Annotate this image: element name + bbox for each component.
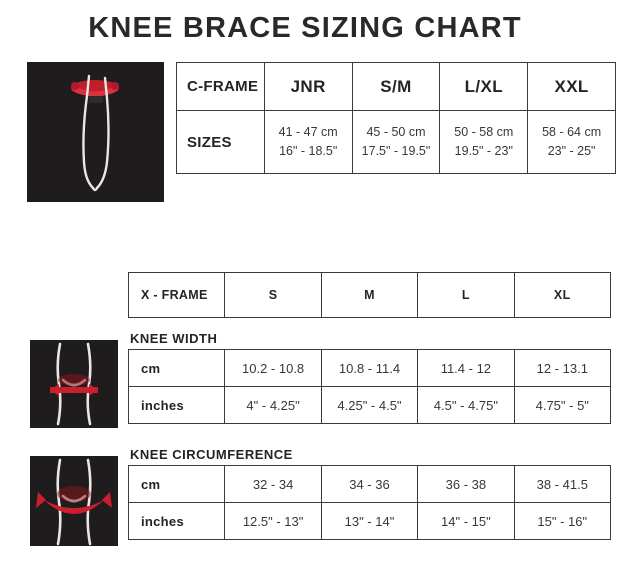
x-frame-header-table: X - FRAME S M L XL [128,272,611,318]
cell-lxl-size: 50 - 58 cm 19.5" - 23" [440,111,528,174]
column-header-m: M [321,273,417,318]
column-header-jnr: JNR [264,63,352,111]
knee-circumference-caption: KNEE CIRCUMFERENCE [130,447,293,462]
column-header-lxl: L/XL [440,63,528,111]
cell-xxl-size: 58 - 64 cm 23" - 25" [528,111,616,174]
knee-width-inches-label: inches [129,387,225,424]
knee-circ-cm-xl: 38 - 41.5 [514,466,610,503]
knee-circ-inches-xl: 15" - 16" [514,503,610,540]
knee-circumference-table: cm 32 - 34 34 - 36 36 - 38 38 - 41.5 inc… [128,465,611,540]
column-header-xl: XL [514,273,610,318]
cell-sm-cm: 45 - 50 cm [353,123,440,142]
knee-circ-cm-l: 36 - 38 [418,466,514,503]
table-row: C-FRAME JNR S/M L/XL XXL [177,63,616,111]
table-row: inches 4" - 4.25" 4.25" - 4.5" 4.5" - 4.… [129,387,611,424]
cell-sm-inches: 17.5" - 19.5" [353,142,440,161]
knee-width-cm-label: cm [129,350,225,387]
table-row: inches 12.5" - 13" 13" - 14" 14" - 15" 1… [129,503,611,540]
cell-lxl-cm: 50 - 58 cm [440,123,527,142]
knee-circ-inches-l: 14" - 15" [418,503,514,540]
column-header-s: S [225,273,321,318]
knee-width-cm-m: 10.8 - 11.4 [321,350,417,387]
column-header-sm: S/M [352,63,440,111]
cell-lxl-inches: 19.5" - 23" [440,142,527,161]
cell-jnr-cm: 41 - 47 cm [265,123,352,142]
knee-width-illustration [30,340,118,428]
column-header-xxl: XXL [528,63,616,111]
knee-width-inches-l: 4.5" - 4.75" [418,387,514,424]
column-header-l: L [418,273,514,318]
knee-width-cm-s: 10.2 - 10.8 [225,350,321,387]
cell-xxl-cm: 58 - 64 cm [528,123,615,142]
table-row: cm 10.2 - 10.8 10.8 - 11.4 11.4 - 12 12 … [129,350,611,387]
knee-circ-inches-label: inches [129,503,225,540]
page-title: KNEE BRACE SIZING CHART [0,12,610,45]
cell-jnr-size: 41 - 47 cm 16" - 18.5" [264,111,352,174]
knee-circ-cm-m: 34 - 36 [321,466,417,503]
knee-width-table: cm 10.2 - 10.8 10.8 - 11.4 11.4 - 12 12 … [128,349,611,424]
table-row: X - FRAME S M L XL [129,273,611,318]
knee-circumference-illustration [30,456,118,546]
knee-circ-inches-m: 13" - 14" [321,503,417,540]
red-brace-marker [71,80,119,96]
knee-circ-cm-s: 32 - 34 [225,466,321,503]
knee-width-cm-l: 11.4 - 12 [418,350,514,387]
knee-width-caption: KNEE WIDTH [130,331,217,346]
sizes-label: SIZES [177,111,265,174]
c-frame-label: C-FRAME [177,63,265,111]
cell-jnr-inches: 16" - 18.5" [265,142,352,161]
c-frame-leg-illustration [27,62,164,202]
cell-xxl-inches: 23" - 25" [528,142,615,161]
knee-circ-inches-s: 12.5" - 13" [225,503,321,540]
knee-width-inches-m: 4.25" - 4.5" [321,387,417,424]
table-row: SIZES 41 - 47 cm 16" - 18.5" 45 - 50 cm … [177,111,616,174]
knee-detail [89,96,103,103]
knee-width-inches-xl: 4.75" - 5" [514,387,610,424]
cell-sm-size: 45 - 50 cm 17.5" - 19.5" [352,111,440,174]
x-frame-label: X - FRAME [129,273,225,318]
table-row: cm 32 - 34 34 - 36 36 - 38 38 - 41.5 [129,466,611,503]
knee-width-cm-xl: 12 - 13.1 [514,350,610,387]
c-frame-size-table: C-FRAME JNR S/M L/XL XXL SIZES 41 - 47 c… [176,62,616,174]
knee-circ-cm-label: cm [129,466,225,503]
knee-width-inches-s: 4" - 4.25" [225,387,321,424]
